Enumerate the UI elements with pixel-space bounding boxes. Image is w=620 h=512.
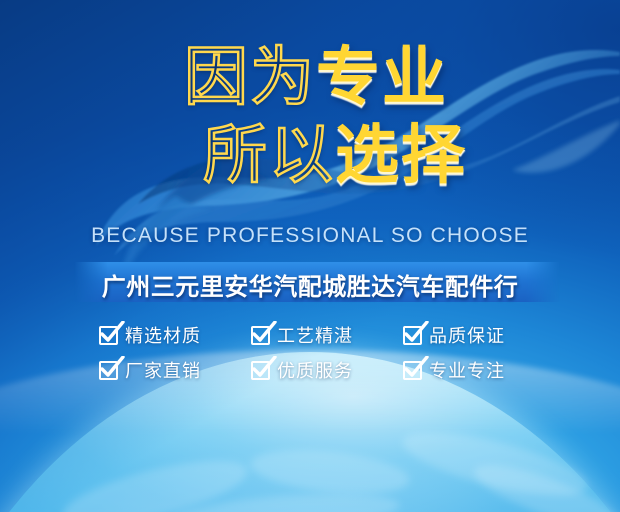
headline-line-2-outline: 所以 [203, 119, 335, 193]
checkbox-checked-icon [251, 326, 270, 345]
feature-item: 优质服务 [251, 357, 369, 383]
promo-banner: 因为专业 所以选择 BECAUSE PROFESSIONAL SO CHOOSE… [0, 0, 620, 512]
headline-line-1-solid: 专业 [316, 41, 448, 115]
feature-label: 厂家直销 [125, 357, 201, 383]
checkbox-checked-icon [99, 326, 118, 345]
company-name-bar: 广州三元里安华汽配城胜达汽车配件行 [0, 262, 620, 302]
feature-label: 工艺精湛 [277, 322, 353, 348]
checkbox-checked-icon [403, 361, 422, 380]
feature-item: 精选材质 [99, 322, 217, 348]
checkbox-checked-icon [251, 361, 270, 380]
checkbox-checked-icon [403, 326, 422, 345]
feature-row-1: 精选材质 工艺精湛 品质保证 [99, 322, 521, 348]
feature-label: 品质保证 [429, 322, 505, 348]
feature-label: 优质服务 [277, 357, 353, 383]
company-name-text: 广州三元里安华汽配城胜达汽车配件行 [0, 267, 620, 302]
feature-item: 厂家直销 [99, 357, 217, 383]
feature-item: 品质保证 [403, 322, 521, 348]
headline-line-1: 因为专业 [0, 46, 620, 110]
checkbox-checked-icon [99, 361, 118, 380]
headline-line-2: 所以选择 [0, 124, 620, 188]
english-subtitle: BECAUSE PROFESSIONAL SO CHOOSE [0, 224, 620, 248]
feature-label: 专业专注 [429, 357, 505, 383]
feature-list: 精选材质 工艺精湛 品质保证 厂家直销 优质服务 专业专注 [0, 322, 620, 383]
feature-item: 工艺精湛 [251, 322, 369, 348]
feature-row-2: 厂家直销 优质服务 专业专注 [99, 357, 521, 383]
feature-label: 精选材质 [125, 322, 201, 348]
headline-block: 因为专业 所以选择 [0, 46, 620, 188]
headline-line-2-solid: 选择 [335, 119, 467, 193]
feature-item: 专业专注 [403, 357, 521, 383]
headline-line-1-outline: 因为 [184, 41, 316, 115]
